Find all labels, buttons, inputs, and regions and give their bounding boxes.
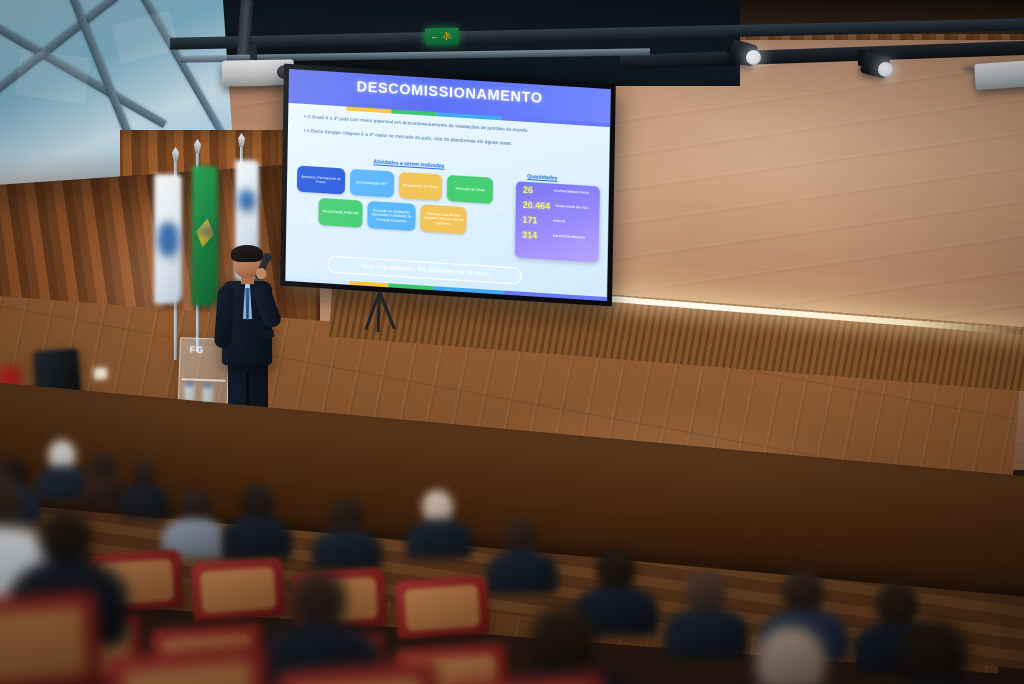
exit-arrow-icon: ←: [430, 32, 439, 41]
audience-area: [0, 420, 1024, 684]
presentation-clicker[interactable]: [262, 329, 274, 339]
quantities-heading: Quantidades: [527, 174, 557, 182]
tripod-leg: [377, 292, 381, 332]
audience-shoulders: [312, 529, 382, 571]
auditorium-seat[interactable]: [190, 557, 286, 621]
quantity-value: 171: [522, 214, 548, 226]
seat-wood-back: [123, 661, 257, 684]
seat-wood-back: [293, 677, 427, 684]
audience-head: [782, 570, 824, 614]
activity-box[interactable]: Desmobilização UEP: [350, 169, 394, 198]
secondary-projector: [974, 60, 1024, 90]
audience-shoulders: [664, 608, 748, 658]
auditorium-seat[interactable]: [0, 590, 104, 684]
audience-head: [40, 510, 92, 566]
activity-box[interactable]: Recuperação Ambiental: [318, 198, 362, 228]
flag-emblem: [239, 190, 254, 210]
quantity-value: 314: [522, 229, 548, 241]
bottle-cap: [205, 384, 210, 388]
auditorium-scene: ← ⛹ DESCOMISSIONAMENTO: [0, 0, 1024, 684]
spotlight-lens-icon: [746, 50, 761, 65]
microphone-capsule-icon: [261, 252, 273, 264]
activity-box[interactable]: Remoção de Instalações associadas a Unid…: [367, 201, 415, 231]
quantity-label: TONELADAS DE AÇO: [555, 204, 589, 210]
emergency-exit-sign: ← ⛹: [425, 28, 459, 46]
audience-head: [686, 570, 726, 612]
audience-head: [756, 626, 826, 684]
activities-heading: Atividades a serem realizadas: [373, 159, 444, 169]
activity-box-row: Recuperação Ambiental Remoção de Instala…: [318, 198, 492, 236]
wall-light-fixture: [94, 368, 108, 380]
audience-head: [178, 488, 210, 522]
tripod-leg: [378, 292, 395, 330]
quantity-label: PLATAFORMAS FIXAS: [554, 189, 589, 195]
audience-head: [530, 606, 596, 676]
flag-brazil-globe: [201, 226, 211, 236]
slide-body: • O Brasil é o 3º país com maior potenci…: [285, 107, 610, 301]
audience-head: [876, 582, 918, 626]
audience-head: [504, 518, 538, 554]
seat-wood-back: [404, 585, 480, 632]
activity-box[interactable]: Arrasamento de Poços: [398, 172, 442, 201]
quantity-value: 26: [523, 184, 549, 196]
audience-shoulders: [120, 484, 168, 518]
total-value-banner: Valor total estimado: R$ 16 bilhões em 1…: [327, 256, 521, 285]
audience-head: [900, 620, 968, 684]
quantities-panel: 26 PLATAFORMAS FIXAS 20.464 TONELADAS DE…: [515, 181, 600, 262]
presentation-slide: DESCOMISSIONAMENTO • O Brasil é o 3º paí…: [285, 69, 610, 301]
audience-shoulders: [222, 516, 292, 560]
flag-emblem: [158, 222, 178, 256]
quantity-label: POÇOS: [553, 219, 565, 223]
quantity-label: KM DUTOS RÍGIDOS: [553, 234, 585, 240]
slide-source-note: Fonte: ANP: [578, 282, 596, 287]
projection-screen[interactable]: DESCOMISSIONAMENTO • O Brasil é o 3º paí…: [280, 64, 616, 307]
audience-shoulders: [486, 550, 558, 594]
screen-tripod-stand: [352, 292, 406, 334]
audience-shoulders: [406, 519, 472, 559]
audience-head: [330, 498, 363, 533]
activity-box[interactable]: Abandono Permanente de Poços: [297, 166, 345, 195]
seat-wood-back: [200, 567, 276, 614]
seat-wood-back: [0, 606, 88, 684]
glasses-icon: [235, 258, 259, 264]
running-person-icon: ⛹: [442, 32, 453, 41]
audience-head: [240, 484, 274, 520]
spotlight-lens-icon: [878, 62, 893, 77]
audience-head: [290, 570, 346, 628]
podium-logo: FG: [189, 345, 204, 355]
auditorium-seat[interactable]: [394, 575, 490, 639]
activity-box[interactable]: Remoção dos demais Equipamentos do Siste…: [420, 204, 466, 234]
audience-head: [596, 548, 636, 590]
activity-box[interactable]: Remoção de linhas: [447, 175, 493, 204]
quantity-value: 20.464: [523, 199, 551, 211]
activity-box-grid: Abandono Permanente de Poços Desmobiliza…: [296, 166, 493, 241]
bottle-cap: [187, 382, 192, 386]
